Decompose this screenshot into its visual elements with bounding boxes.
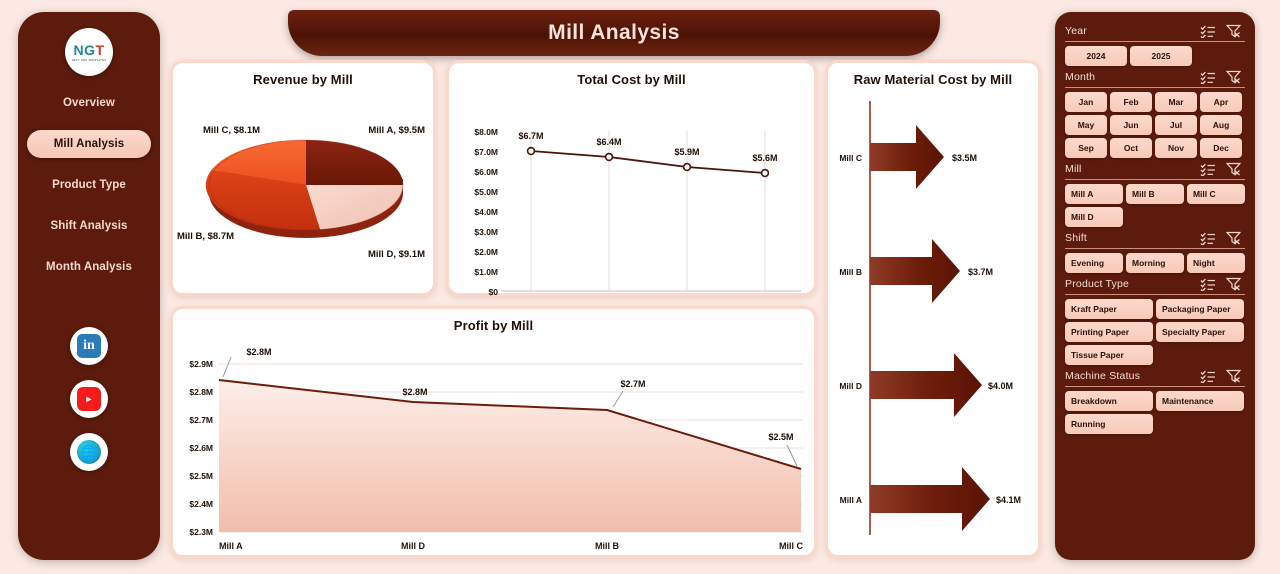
filter-title-machine-status: Machine Status	[1065, 370, 1200, 382]
value-label: $2.8M	[402, 387, 427, 397]
filter-chip-packaging-paper[interactable]: Packaging Paper	[1156, 299, 1244, 319]
website-globe-icon[interactable]: 🌐	[70, 433, 108, 471]
raw-material-chart-title: Raw Material Cost by Mill	[828, 63, 1038, 87]
filter-chip-2024[interactable]: 2024	[1065, 46, 1127, 66]
ytick-label: $2.8M	[189, 387, 213, 397]
multi-select-icon[interactable]	[1200, 25, 1216, 38]
raw-material-arrow-chart[interactable]: Mill C $3.5M Mill B $3.7M Mill D $4.0M M…	[828, 87, 1038, 547]
filter-header-shift: Shift	[1065, 231, 1245, 245]
revenue-chart-title: Revenue by Mill	[173, 63, 433, 87]
filter-chip-kraft-paper[interactable]: Kraft Paper	[1065, 299, 1153, 319]
filter-options-month: Jan Feb Mar Apr May Jun Jul Aug Sep Oct …	[1065, 92, 1245, 158]
filter-chip-breakdown[interactable]: Breakdown	[1065, 391, 1153, 411]
logo-text-ng: NG	[73, 42, 95, 58]
filter-chip-2025[interactable]: 2025	[1130, 46, 1192, 66]
clear-filter-icon[interactable]	[1226, 162, 1241, 176]
ytick-label: $2.9M	[189, 359, 213, 369]
sidebar-item-product-type[interactable]: Product Type	[27, 171, 151, 199]
pie-label-mill-b: Mill B, $8.7M	[177, 231, 234, 243]
multi-select-icon[interactable]	[1200, 232, 1216, 245]
filter-chip-night[interactable]: Night	[1187, 253, 1245, 273]
category-label: Mill D	[401, 541, 425, 551]
multi-select-icon[interactable]	[1200, 370, 1216, 383]
clear-filter-icon[interactable]	[1226, 231, 1241, 245]
filter-chip-mill-c[interactable]: Mill C	[1187, 184, 1245, 204]
multi-select-icon[interactable]	[1200, 278, 1216, 291]
filter-header-year: Year	[1065, 24, 1245, 38]
filter-options-product-type: Kraft Paper Packaging Paper Printing Pap…	[1065, 299, 1245, 365]
filter-chip-sep[interactable]: Sep	[1065, 138, 1107, 158]
filter-header-month: Month	[1065, 70, 1245, 84]
raw-material-cost-card: Raw Material Cost by Mill Mill C $3.5M M…	[825, 60, 1041, 558]
clear-filter-icon[interactable]	[1226, 24, 1241, 38]
sidebar-item-shift-analysis[interactable]: Shift Analysis	[27, 212, 151, 240]
raw-category-label: Mill B	[839, 267, 862, 277]
raw-category-label: Mill C	[839, 153, 862, 163]
value-label: $6.4M	[596, 137, 621, 147]
revenue-pie-chart[interactable]: Mill A, $9.5M Mill D, $9.1M Mill B, $8.7…	[173, 87, 433, 277]
filter-title-month: Month	[1065, 71, 1200, 83]
filter-chip-mar[interactable]: Mar	[1155, 92, 1197, 112]
filter-header-product-type: Product Type	[1065, 277, 1245, 291]
total-cost-chart-title: Total Cost by Mill	[449, 63, 814, 87]
value-label: $5.6M	[752, 153, 777, 163]
total-cost-by-mill-card: Total Cost by Mill $8.0M $7.0M $6.0M $5.…	[446, 60, 817, 296]
ytick-label: $3.0M	[474, 227, 498, 237]
profit-chart-title: Profit by Mill	[173, 309, 814, 333]
linkedin-icon[interactable]: in	[70, 327, 108, 365]
filter-options-machine-status: Breakdown Maintenance Running	[1065, 391, 1245, 434]
sidebar: NGT NEXT GEN TEMPLATES Overview Mill Ana…	[18, 12, 160, 560]
filter-chip-mill-b[interactable]: Mill B	[1126, 184, 1184, 204]
ytick-label: $8.0M	[474, 127, 498, 137]
filter-chip-apr[interactable]: Apr	[1200, 92, 1242, 112]
filter-chip-evening[interactable]: Evening	[1065, 253, 1123, 273]
profit-area-chart[interactable]: $2.9M $2.8M $2.7M $2.6M $2.5M $2.4M $2.3…	[173, 333, 814, 555]
raw-value-label: $3.5M	[952, 153, 977, 163]
filter-chip-maintenance[interactable]: Maintenance	[1156, 391, 1244, 411]
filter-options-mill: Mill A Mill B Mill C Mill D	[1065, 184, 1245, 227]
raw-value-label: $4.0M	[988, 381, 1013, 391]
divider	[1065, 179, 1245, 180]
filter-chip-running[interactable]: Running	[1065, 414, 1153, 434]
sidebar-item-overview[interactable]: Overview	[27, 89, 151, 117]
filter-chip-dec[interactable]: Dec	[1200, 138, 1242, 158]
youtube-icon[interactable]: ►	[70, 380, 108, 418]
sidebar-item-mill-analysis[interactable]: Mill Analysis	[27, 130, 151, 158]
filter-chip-oct[interactable]: Oct	[1110, 138, 1152, 158]
category-label: Mill C	[779, 541, 803, 551]
logo-tagline: NEXT GEN TEMPLATES	[72, 59, 107, 62]
filter-chip-tissue-paper[interactable]: Tissue Paper	[1065, 345, 1153, 365]
revenue-by-mill-card: Revenue by Mill	[170, 60, 436, 296]
filter-panel: Year 2024 2025 Month	[1055, 12, 1255, 560]
divider	[1065, 41, 1245, 42]
divider	[1065, 294, 1245, 295]
ytick-label: $2.0M	[474, 247, 498, 257]
ytick-label: $4.0M	[474, 207, 498, 217]
pie-label-mill-c: Mill C, $8.1M	[203, 125, 260, 137]
filter-chip-aug[interactable]: Aug	[1200, 115, 1242, 135]
profit-by-mill-card: Profit by Mill $2.9M $2.8M $2.7M $2.6M $…	[170, 306, 817, 558]
ytick-label: $6.0M	[474, 167, 498, 177]
page-title-text: Mill Analysis	[548, 21, 680, 45]
sidebar-item-month-analysis[interactable]: Month Analysis	[27, 253, 151, 281]
raw-category-label: Mill D	[839, 381, 862, 391]
total-cost-line-chart[interactable]: $8.0M $7.0M $6.0M $5.0M $4.0M $3.0M $2.0…	[449, 87, 814, 297]
value-label: $5.9M	[674, 147, 699, 157]
multi-select-icon[interactable]	[1200, 71, 1216, 84]
value-label: $2.8M	[246, 347, 271, 357]
filter-chip-mill-d[interactable]: Mill D	[1065, 207, 1123, 227]
pie-label-mill-d: Mill D, $9.1M	[368, 249, 425, 261]
filter-chip-morning[interactable]: Morning	[1126, 253, 1184, 273]
filter-header-mill: Mill	[1065, 162, 1245, 176]
ytick-label: $5.0M	[474, 187, 498, 197]
filter-chip-feb[interactable]: Feb	[1110, 92, 1152, 112]
divider	[1065, 87, 1245, 88]
value-label: $6.7M	[518, 131, 543, 141]
divider	[1065, 386, 1245, 387]
raw-category-label: Mill A	[840, 495, 862, 505]
filter-chip-printing-paper[interactable]: Printing Paper	[1065, 322, 1153, 342]
multi-select-icon[interactable]	[1200, 163, 1216, 176]
ytick-label: $2.5M	[189, 471, 213, 481]
filter-chip-mill-a[interactable]: Mill A	[1065, 184, 1123, 204]
ytick-label: $2.3M	[189, 527, 213, 537]
ytick-label: $2.6M	[189, 443, 213, 453]
filter-chip-jan[interactable]: Jan	[1065, 92, 1107, 112]
filter-title-product-type: Product Type	[1065, 278, 1200, 290]
raw-value-label: $3.7M	[968, 267, 993, 277]
ngt-logo: NGT NEXT GEN TEMPLATES	[65, 28, 113, 76]
clear-filter-icon[interactable]	[1226, 277, 1241, 291]
clear-filter-icon[interactable]	[1226, 70, 1241, 84]
ytick-label: $0	[489, 287, 499, 297]
filter-header-machine-status: Machine Status	[1065, 369, 1245, 383]
filter-options-year: 2024 2025	[1065, 46, 1245, 66]
ytick-label: $2.7M	[189, 415, 213, 425]
filter-options-shift: Evening Morning Night	[1065, 253, 1245, 273]
filter-title-shift: Shift	[1065, 232, 1200, 244]
filter-chip-jun[interactable]: Jun	[1110, 115, 1152, 135]
filter-title-year: Year	[1065, 25, 1200, 37]
divider	[1065, 248, 1245, 249]
ytick-label: $7.0M	[474, 147, 498, 157]
raw-value-label: $4.1M	[996, 495, 1021, 505]
filter-chip-specialty-paper[interactable]: Specialty Paper	[1156, 322, 1244, 342]
page-title: Mill Analysis	[288, 10, 940, 56]
value-label: $2.7M	[620, 379, 645, 389]
filter-chip-jul[interactable]: Jul	[1155, 115, 1197, 135]
filter-chip-may[interactable]: May	[1065, 115, 1107, 135]
ytick-label: $1.0M	[474, 267, 498, 277]
pie-label-mill-a: Mill A, $9.5M	[368, 125, 425, 137]
value-label: $2.5M	[768, 432, 793, 442]
category-label: Mill A	[219, 541, 243, 551]
category-label: Mill B	[595, 541, 619, 551]
logo-text-t: T	[95, 42, 104, 58]
social-links: in ► 🌐	[70, 327, 108, 471]
filter-chip-nov[interactable]: Nov	[1155, 138, 1197, 158]
clear-filter-icon[interactable]	[1226, 369, 1241, 383]
ytick-label: $2.4M	[189, 499, 213, 509]
filter-title-mill: Mill	[1065, 163, 1200, 175]
